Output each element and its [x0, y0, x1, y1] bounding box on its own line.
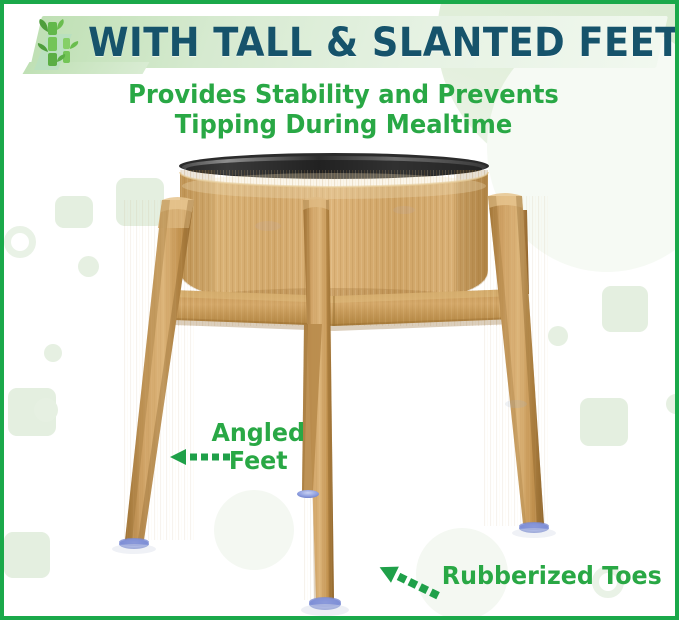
product-infographic-frame: WITH TALL & SLANTED FEET Provides Stabil… — [0, 0, 679, 620]
rubberized-toe — [297, 490, 319, 498]
callout-rubberized-toes: Rubberized Toes — [442, 562, 662, 590]
stand-support-frame — [172, 289, 516, 331]
stand-leg-left — [112, 197, 196, 554]
dashed-arrow-down-left-icon — [376, 560, 448, 606]
stand-leg-right — [484, 193, 556, 538]
callout-angled-feet: Angled Feet — [211, 419, 305, 475]
callout-angled-feet-line2: Feet — [211, 447, 305, 475]
callout-angled-feet-line1: Angled — [211, 419, 305, 447]
product-image — [4, 4, 679, 620]
